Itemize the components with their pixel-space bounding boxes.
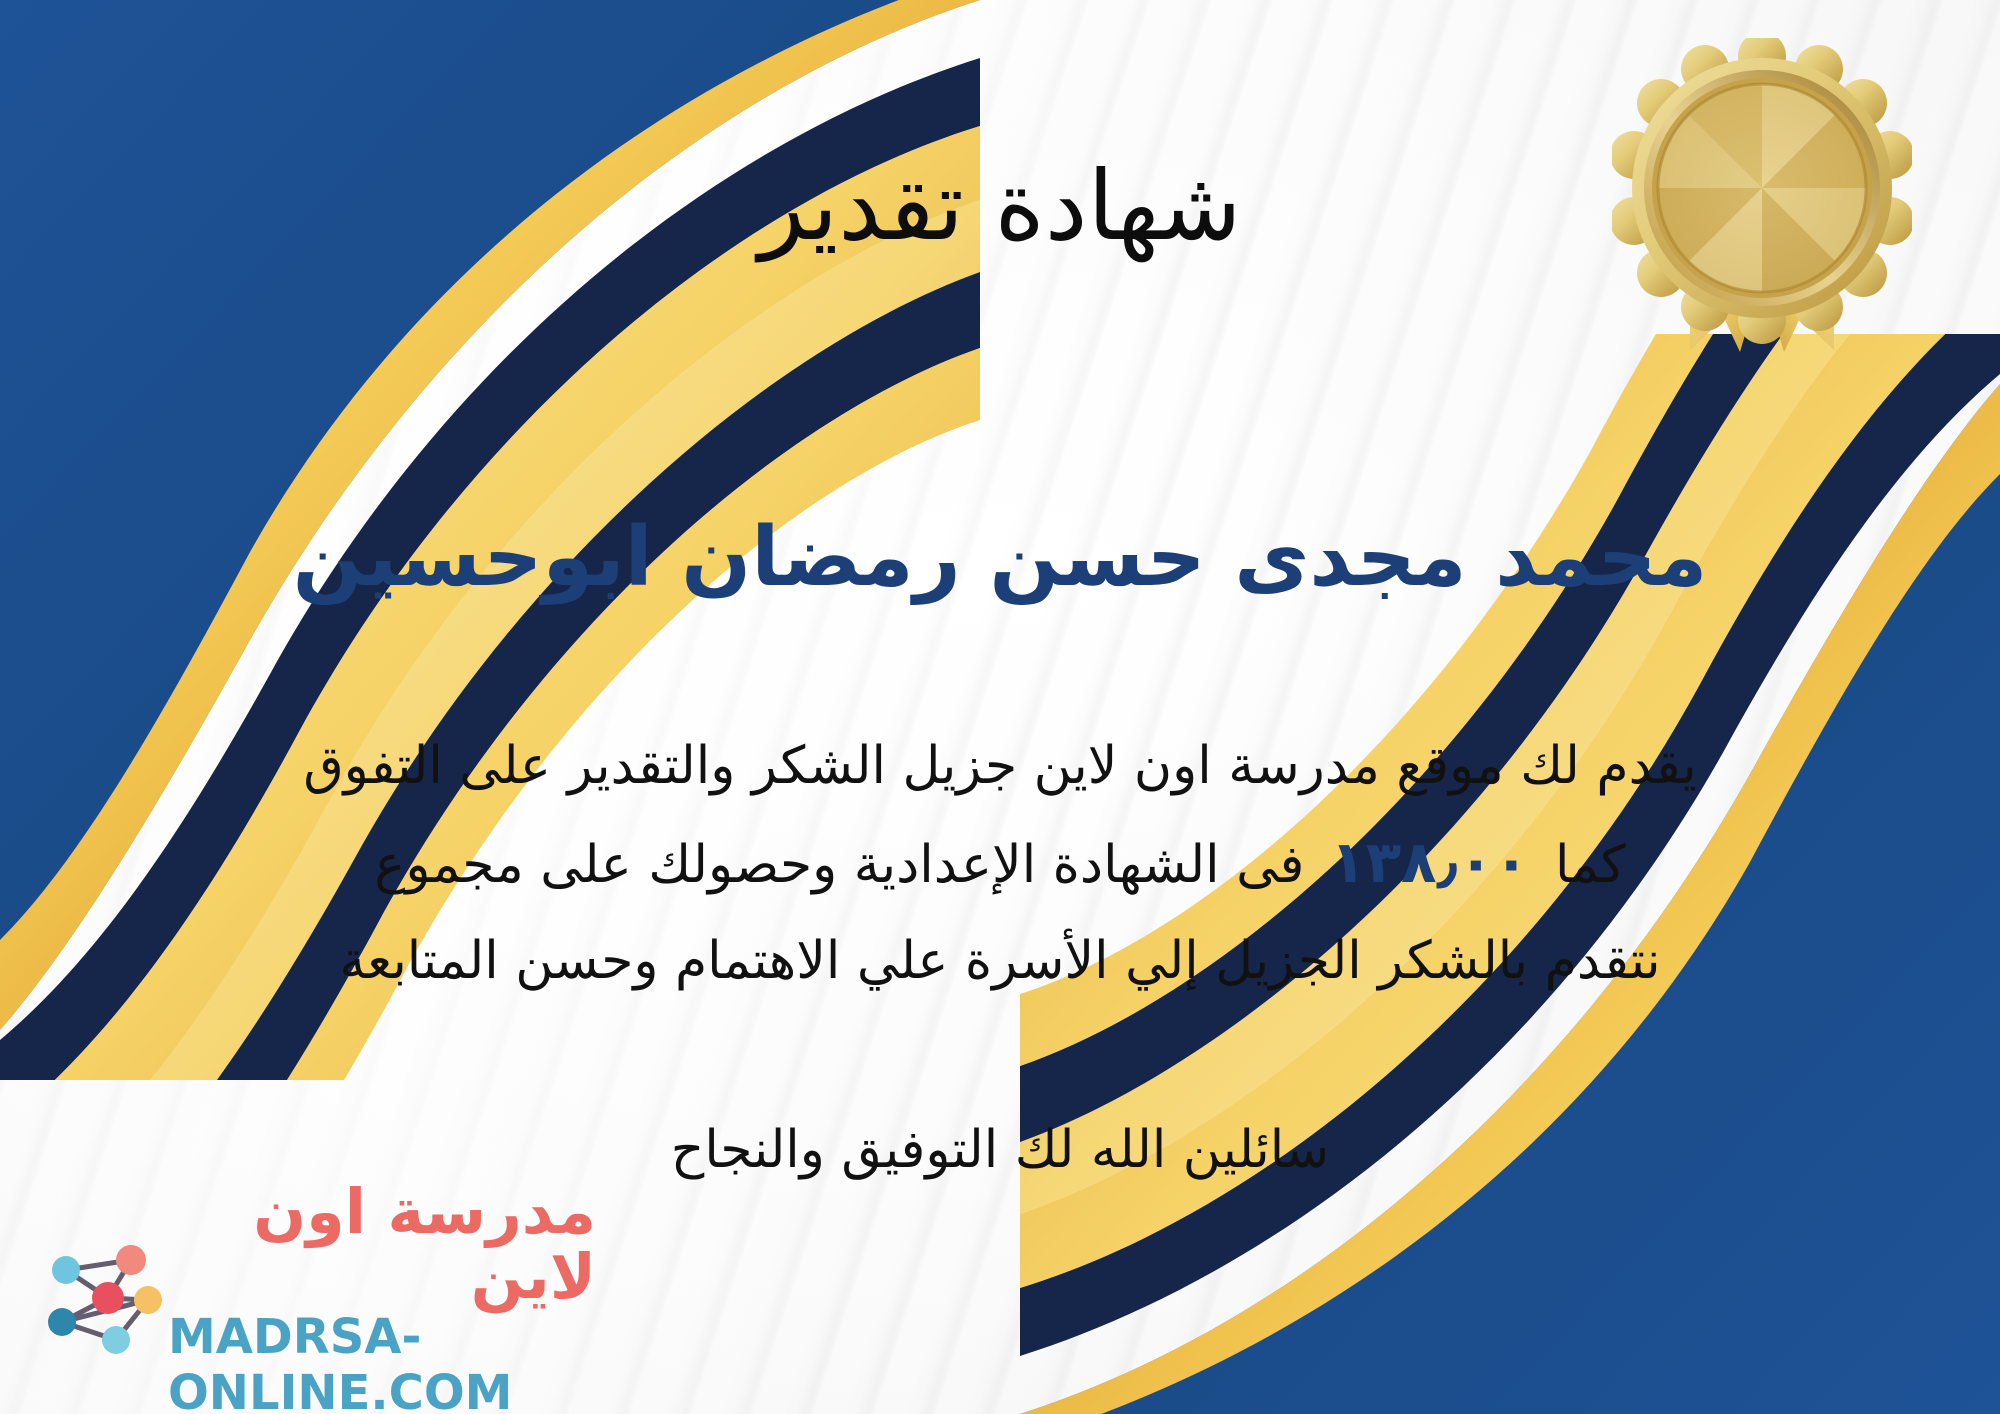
body-line-3: نتقدم بالشكر الجزيل إلي الأسرة علي الاهت… xyxy=(0,913,2000,1009)
score-value: ١٣٨٫٠٠ xyxy=(1304,828,1555,896)
certificate-body: يقدم لك موقع مدرسة اون لاين جزيل الشكر و… xyxy=(0,718,2000,1009)
brand-arabic-name: مدرسة اون لاين xyxy=(168,1179,596,1309)
brand-domain: MADRSA-ONLINE.COM xyxy=(168,1309,596,1414)
page-title: شهادة تقدير xyxy=(0,150,2000,262)
recipient-name: محمد مجدى حسن رمضان ابوحسين xyxy=(0,510,2000,605)
brand-logo[interactable]: مدرسة اون لاين MADRSA-ONLINE.COM xyxy=(36,1220,596,1380)
body-line-2-suffix: كما xyxy=(1555,835,1626,895)
certificate-page: شهادة تقدير محمد مجدى حسن رمضان ابوحسين … xyxy=(0,0,2000,1414)
body-line-1: يقدم لك موقع مدرسة اون لاين جزيل الشكر و… xyxy=(0,718,2000,814)
closing-line: سائلين الله لك التوفيق والنجاح xyxy=(0,1120,2000,1180)
body-line-2: كما١٣٨٫٠٠فى الشهادة الإعدادية وحصولك على… xyxy=(0,814,2000,913)
brand-text: مدرسة اون لاين MADRSA-ONLINE.COM xyxy=(168,1179,596,1414)
network-nodes-icon xyxy=(36,1236,164,1364)
body-line-2-prefix: فى الشهادة الإعدادية وحصولك على مجموع xyxy=(374,835,1304,895)
